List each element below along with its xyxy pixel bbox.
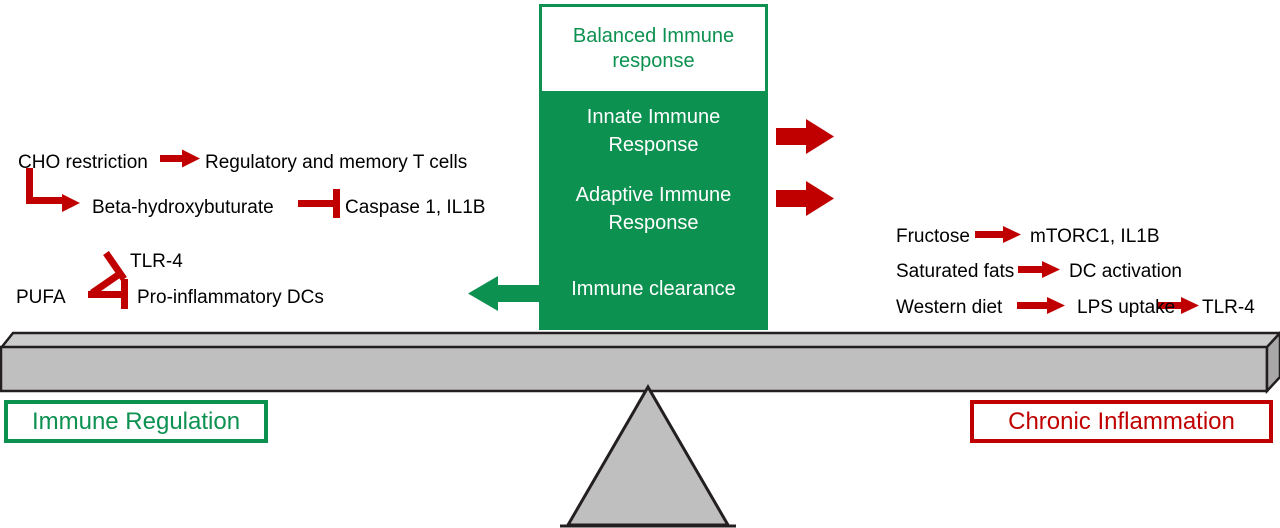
connector-western-to-lps xyxy=(1017,297,1065,314)
label-pufa: PUFA xyxy=(16,287,66,309)
adaptive-immune-response-label: Adaptive Immune Response xyxy=(542,181,765,237)
innate-immune-response-label: Innate Immune Response xyxy=(542,103,765,159)
balanced-immune-label: Balanced Immune response xyxy=(542,24,765,74)
balance-beam xyxy=(1,333,1280,391)
chronic-inflammation-label: Chronic Inflammation xyxy=(1008,408,1235,436)
arrow-right-icon-innate xyxy=(776,119,834,154)
immune-regulation-box: Immune Regulation xyxy=(4,400,268,443)
beam-front-face xyxy=(1,347,1267,391)
label-cho-restriction: CHO restriction xyxy=(18,152,148,174)
connector-satfats-to-dcactivation xyxy=(1018,261,1060,278)
label-dc-activation: DC activation xyxy=(1069,261,1182,283)
label-mtorc1-il1b: mTORC1, IL1B xyxy=(1030,226,1160,248)
fulcrum-triangle xyxy=(568,387,728,525)
label-pro-inflammatory-dcs: Pro-inflammatory DCs xyxy=(137,287,324,309)
arrow-left-icon-clearance xyxy=(468,276,542,311)
connector-cho-to-bhb xyxy=(26,168,80,212)
connector-cho-to-treg xyxy=(160,150,200,168)
connector-bhb-inhibits-caspase xyxy=(298,189,340,218)
chronic-inflammation-box: Chronic Inflammation xyxy=(970,400,1273,443)
balanced-immune-header: Balanced Immune response xyxy=(542,7,765,91)
connector-pufa-inhibits-prodc xyxy=(88,279,128,309)
label-tlr4-left: TLR-4 xyxy=(130,251,183,273)
label-beta-hydroxybuturate: Beta-hydroxybuturate xyxy=(92,197,274,219)
label-saturated-fats: Saturated fats xyxy=(896,261,1014,283)
beam-right-face xyxy=(1267,333,1280,391)
connector-pufa-inhibits-tlr4 xyxy=(92,253,124,293)
label-lps-uptake: LPS uptake xyxy=(1077,297,1175,319)
balanced-immune-column: Balanced Immune response Innate Immune R… xyxy=(539,4,768,330)
immune-clearance-label: Immune clearance xyxy=(542,275,765,303)
balance-diagram: Balanced Immune response Innate Immune R… xyxy=(0,0,1280,528)
label-regulatory-memory-t-cells: Regulatory and memory T cells xyxy=(205,152,467,174)
beam-top-face xyxy=(1,333,1280,348)
label-western-diet: Western diet xyxy=(896,297,1002,319)
connector-fructose-to-mtorc1 xyxy=(975,226,1021,243)
immune-regulation-label: Immune Regulation xyxy=(32,408,240,436)
label-caspase1-il1b: Caspase 1, IL1B xyxy=(345,197,485,219)
arrow-right-icon-adaptive xyxy=(776,181,834,216)
label-tlr4-right: TLR-4 xyxy=(1202,297,1255,319)
label-fructose: Fructose xyxy=(896,226,970,248)
